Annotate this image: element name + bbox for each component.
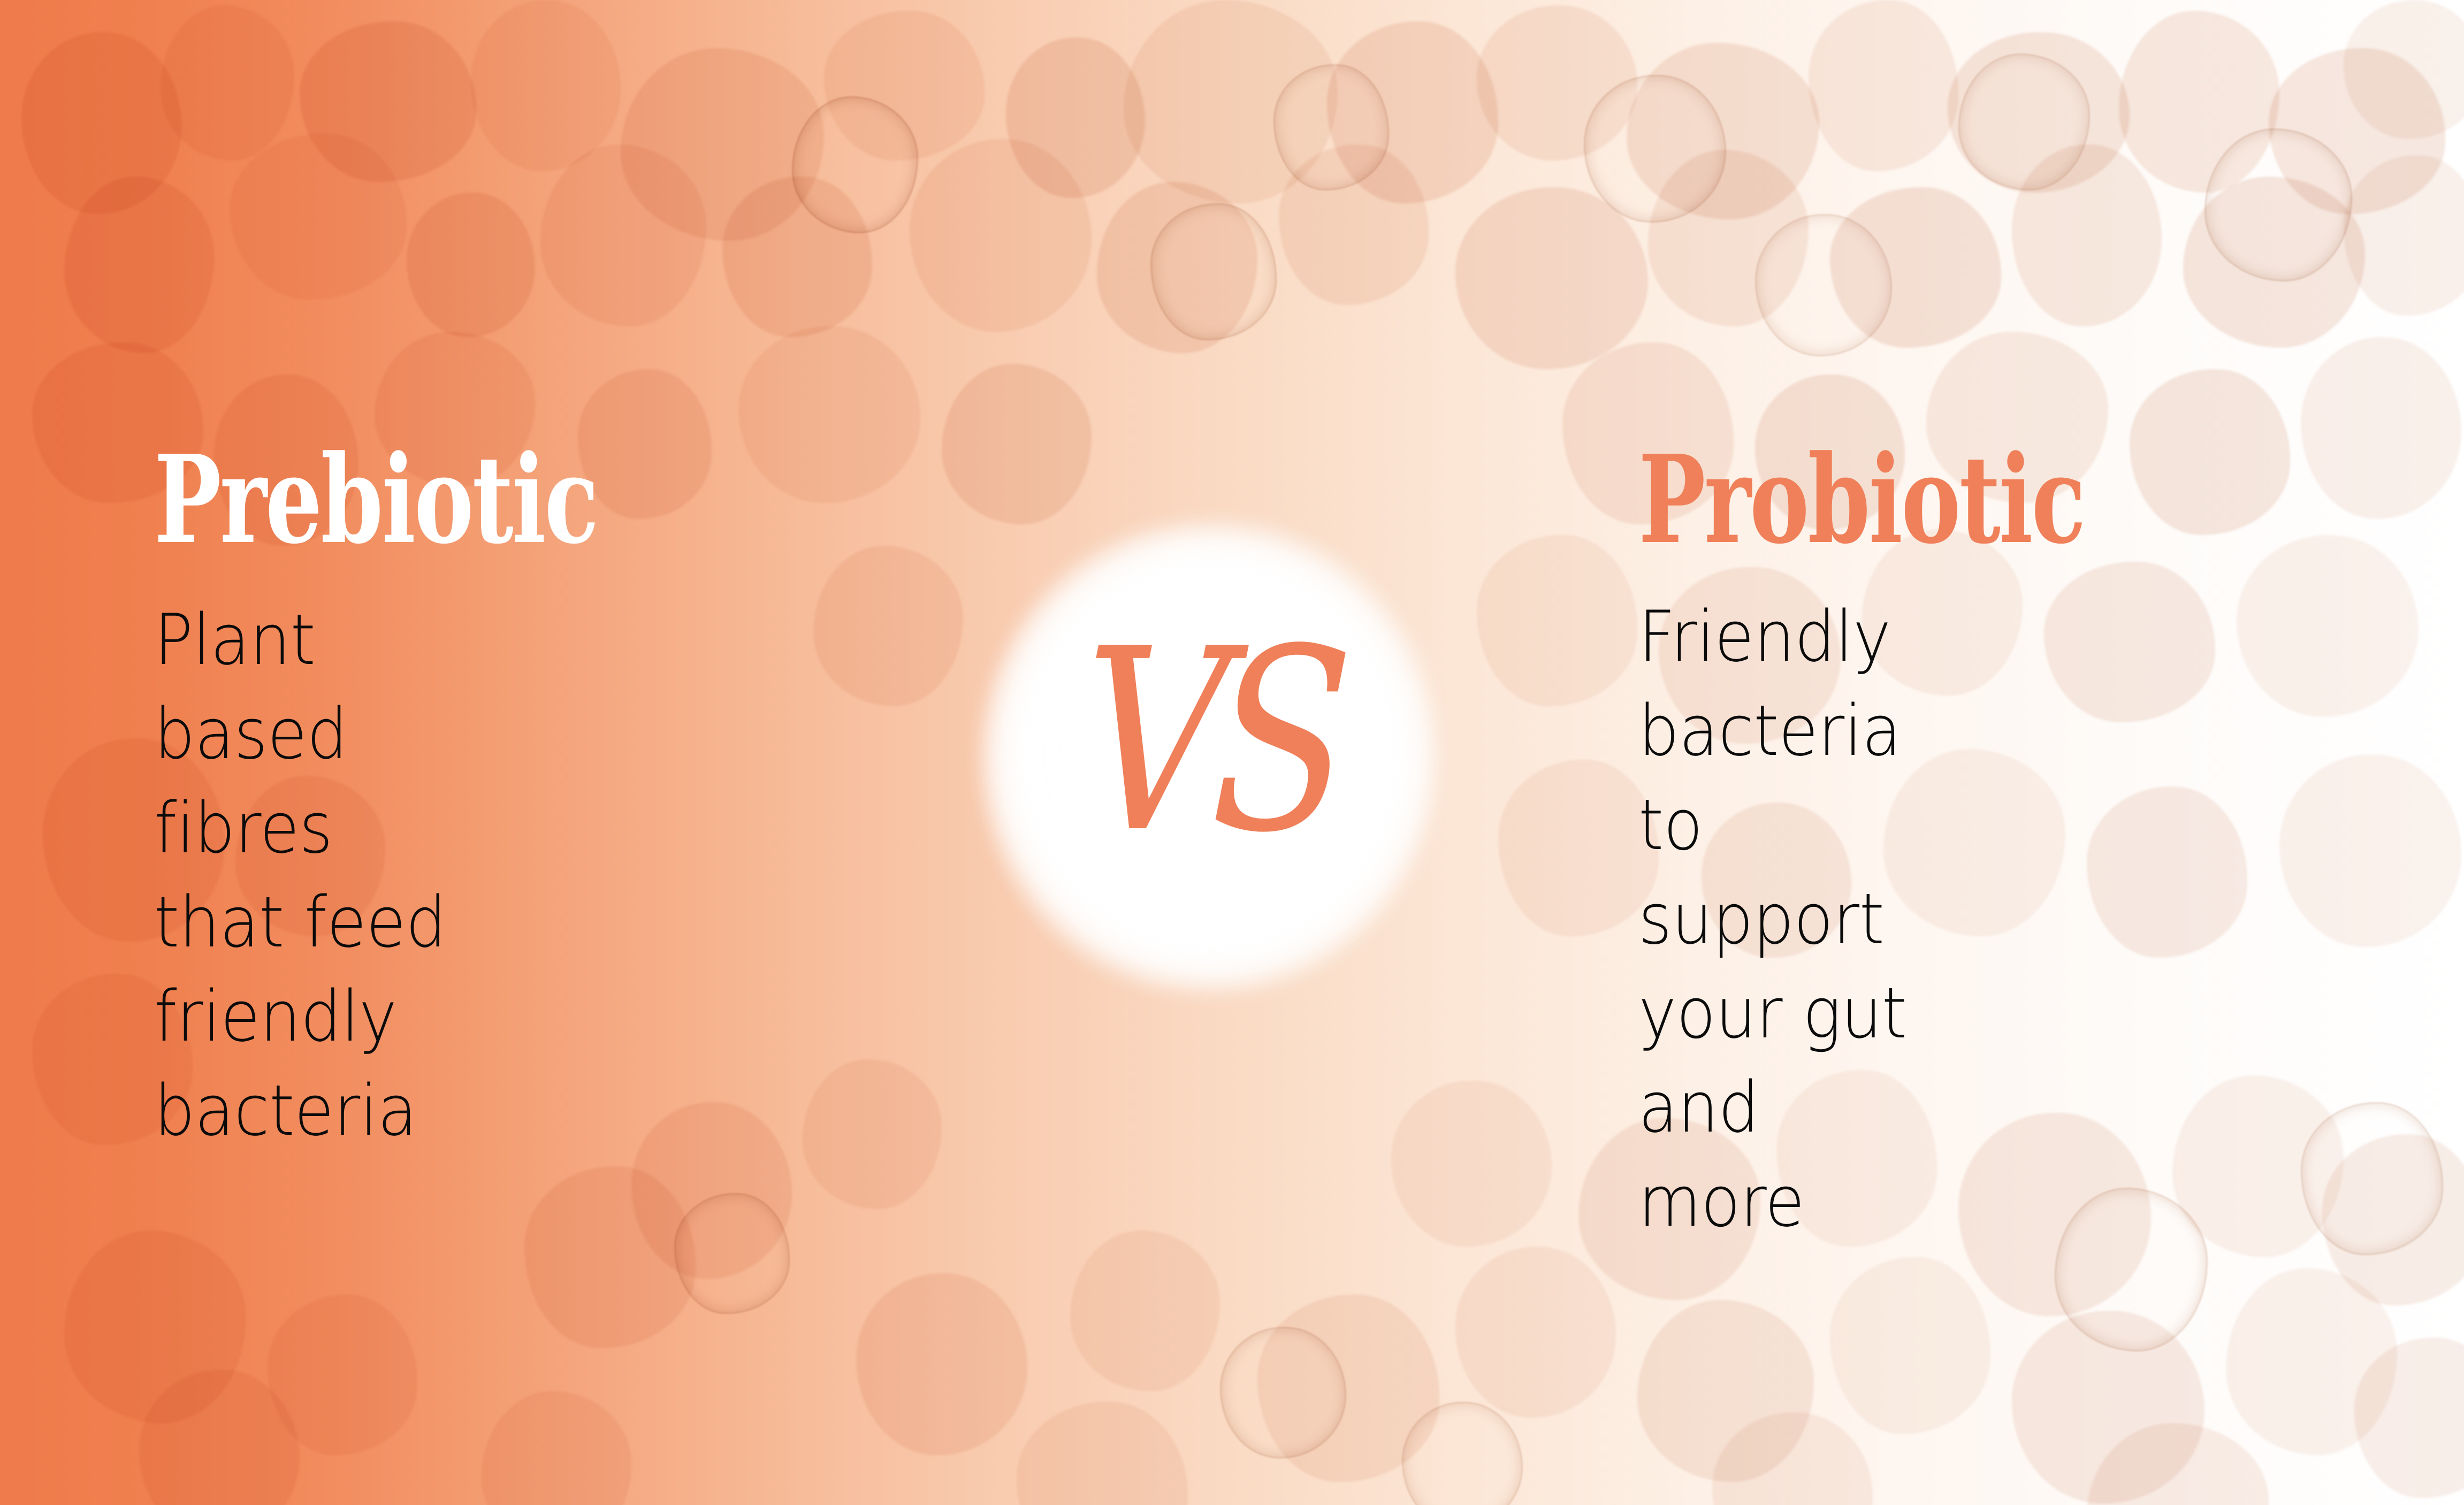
vs-label: VS xyxy=(1009,616,1409,867)
background-bubble xyxy=(1391,1081,1552,1247)
background-bubble-outlined xyxy=(1150,203,1277,340)
background-bubble xyxy=(471,0,621,171)
background-bubble xyxy=(813,546,963,706)
background-bubble xyxy=(1455,187,1648,369)
background-bubble xyxy=(1477,535,1637,706)
prebiotic-description: Plant based fibres that feed friendly ba… xyxy=(154,593,469,1158)
background-bubble-outlined xyxy=(1958,54,2090,190)
background-bubble xyxy=(803,1059,942,1209)
background-bubble-outlined xyxy=(1220,1327,1346,1458)
vs-divider-badge: VS xyxy=(966,506,1453,1009)
prebiotic-heading: Prebiotic xyxy=(154,444,649,556)
background-bubble xyxy=(1070,1231,1220,1391)
background-bubble xyxy=(910,139,1092,332)
background-bubble-outlined xyxy=(1273,64,1389,190)
background-bubble xyxy=(64,177,214,353)
background-bubble xyxy=(1455,1247,1616,1418)
background-bubble xyxy=(856,1273,1027,1455)
background-bubble xyxy=(942,364,1092,524)
background-bubble-outlined xyxy=(674,1193,790,1314)
background-bubble xyxy=(2344,155,2464,316)
background-bubble xyxy=(524,1166,696,1348)
infographic-canvas: Prebiotic Plant based fibres that feed f… xyxy=(0,0,2464,1505)
background-bubble xyxy=(540,144,706,326)
background-bubble xyxy=(482,1391,631,1505)
probiotic-heading: Probiotic xyxy=(1638,444,2153,556)
probiotic-panel: Probiotic Friendly bacteria to support y… xyxy=(1638,444,2334,1249)
probiotic-description: Friendly bacteria to support your gut an… xyxy=(1638,590,1943,1249)
background-bubble xyxy=(1017,1402,1188,1505)
background-bubble-outlined xyxy=(2204,128,2352,281)
background-bubble xyxy=(1809,0,1958,171)
background-bubble xyxy=(230,134,407,300)
prebiotic-panel: Prebiotic Plant based fibres that feed f… xyxy=(154,444,823,1158)
background-bubble xyxy=(407,193,535,337)
background-bubble xyxy=(1498,760,1659,936)
background-bubble-outlined xyxy=(1584,75,1726,223)
background-bubble xyxy=(1830,1257,1990,1434)
background-bubble-outlined xyxy=(1755,214,1892,356)
background-bubble xyxy=(161,5,294,161)
background-bubble-outlined xyxy=(792,96,918,233)
